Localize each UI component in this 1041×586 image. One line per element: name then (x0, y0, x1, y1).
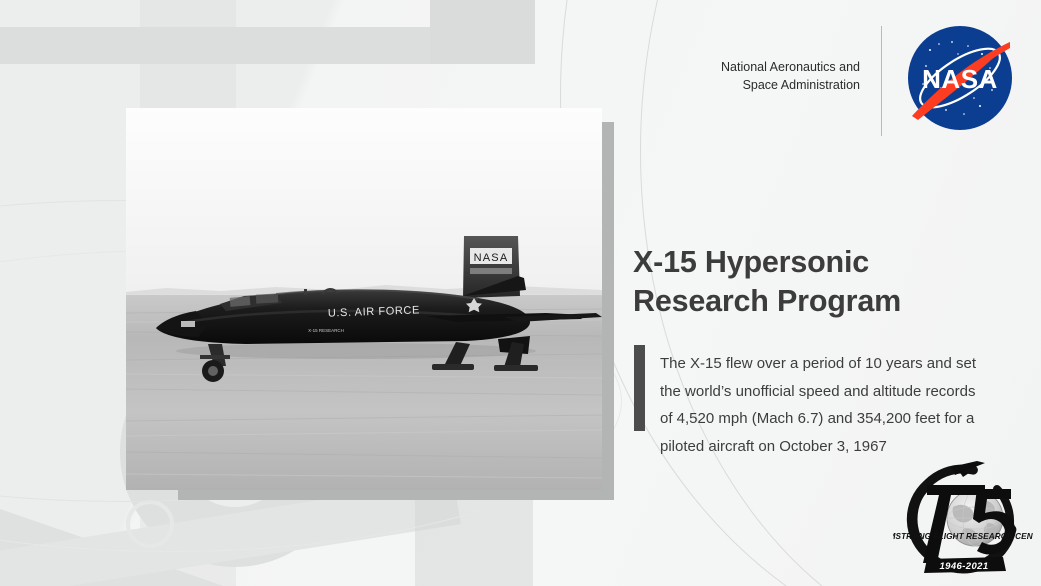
watermark-digit-nine-tail (0, 430, 120, 586)
header-divider (881, 26, 882, 136)
nasa-logo-text: NASA (922, 64, 998, 94)
armstrong-75th-anniversary-logo: ARMSTRONG FLIGHT RESEARCH CENTER 1946-20… (893, 455, 1033, 581)
photo-frame: NASA U.S. AIR FORCE X-15 RESEARCH (126, 108, 602, 490)
page-title-line1: X-15 Hypersonic (633, 243, 1033, 282)
svg-text:NASA: NASA (474, 252, 509, 264)
page-title: X-15 Hypersonic Research Program (633, 243, 1033, 321)
watermark-digit-one-stem (430, 0, 535, 64)
slide-canvas: NASA U.S. AIR FORCE X-15 RESEARCH (0, 0, 1041, 586)
body-paragraph: The X-15 flew over a period of 10 years … (660, 350, 1008, 460)
agency-name-line1: National Aeronautics and (680, 58, 860, 76)
agency-name-line2: Space Administration (680, 76, 860, 94)
body-accent-bar (634, 345, 645, 431)
watermark-ring (126, 500, 174, 548)
afrc-years: 1946-2021 (939, 561, 988, 572)
nasa-meatball-logo: NASA (906, 24, 1014, 132)
nasa-header: National Aeronautics and Space Administr… (690, 18, 1030, 130)
svg-text:X-15 RESEARCH: X-15 RESEARCH (308, 328, 344, 333)
page-title-line2: Research Program (633, 282, 1033, 321)
body-line: the world’s unofficial speed and altitud… (660, 378, 1008, 406)
body-line: The X-15 flew over a period of 10 years … (660, 350, 1008, 378)
watermark-digit-one (0, 27, 533, 64)
agency-name: National Aeronautics and Space Administr… (680, 58, 860, 94)
afrc-center-name: ARMSTRONG FLIGHT RESEARCH CENTER (893, 532, 1033, 541)
x15-aircraft-photo: NASA U.S. AIR FORCE X-15 RESEARCH (126, 108, 602, 490)
body-line: of 4,520 mph (Mach 6.7) and 354,200 feet… (660, 405, 1008, 433)
